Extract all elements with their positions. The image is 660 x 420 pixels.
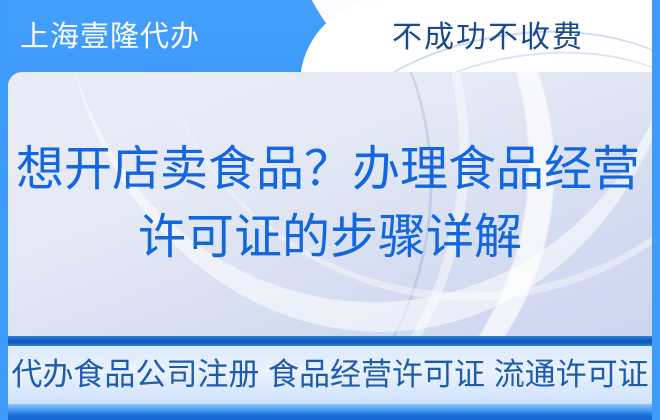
company-logo-text: 上海壹隆代办 [20,18,200,56]
footer-keyword-bar: 代办食品公司注册 食品经营许可证 流通许可证 [0,346,660,404]
headline-line-2: 许可证的步骤详解 [138,204,522,272]
edge-border-right [652,0,660,420]
main-content-panel: 想开店卖食品？办理食品经营 许可证的步骤详解 [8,72,652,336]
headline-line-1: 想开店卖食品？办理食品经营 [16,136,640,204]
edge-border-left [0,0,8,420]
footer-keywords-text: 代办食品公司注册 食品经营许可证 流通许可证 [11,353,648,397]
promo-banner: 上海壹隆代办 不成功不收费 想开店卖食品？办理食品经营 许可证的步骤详解 代办食… [0,0,660,420]
tagline-text: 不成功不收费 [392,18,584,58]
divider-bottom-edge [0,404,660,420]
headline-block: 想开店卖食品？办理食品经营 许可证的步骤详解 [8,72,652,336]
divider-above-footer [0,336,660,346]
